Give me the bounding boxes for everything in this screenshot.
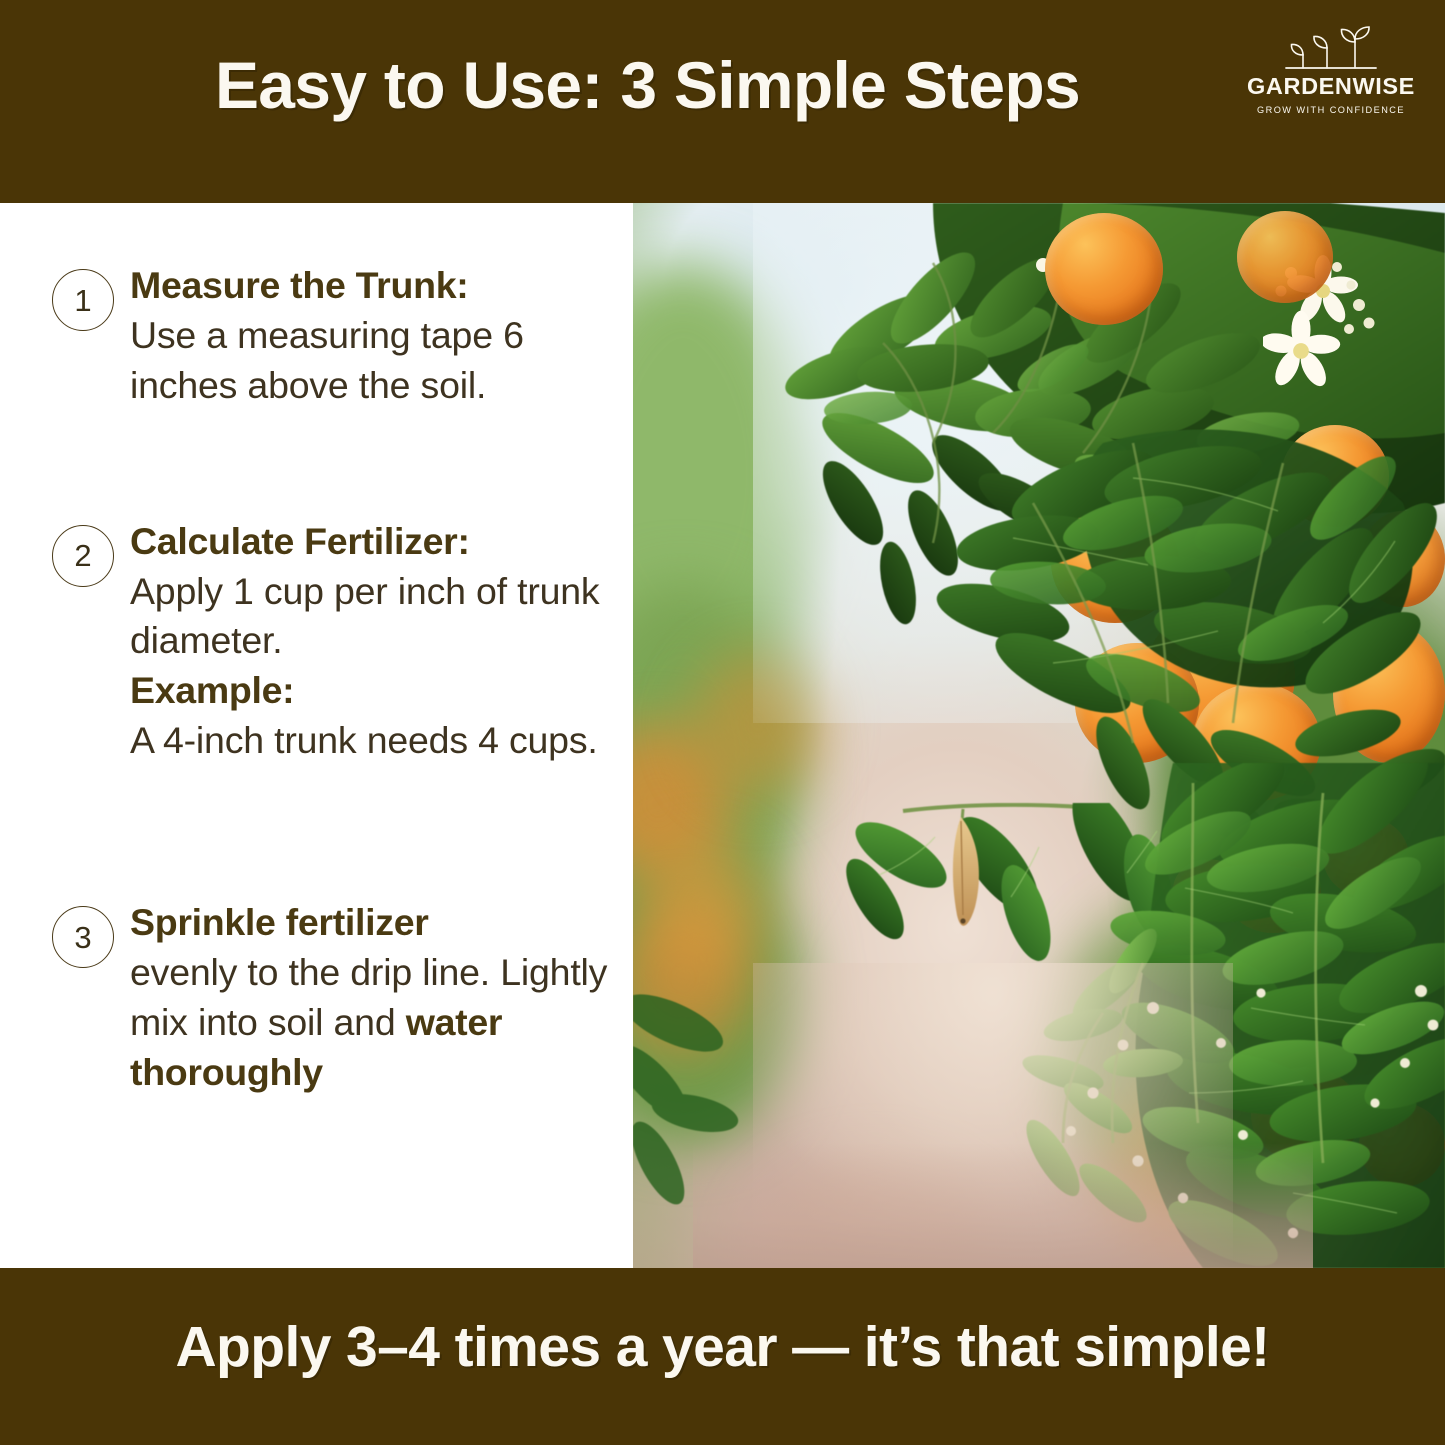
step-heading-3: Sprinkle fertilizer <box>130 901 429 943</box>
brand-logo: GARDENWISE GROW WITH CONFIDENCE <box>1245 24 1417 115</box>
step-heading-1: Measure the Trunk: <box>130 264 468 306</box>
steps-panel: 1 Measure the Trunk: Use a measuring tap… <box>0 203 633 1268</box>
step-item-2: 2 Calculate Fertilizer: Apply 1 cup per … <box>52 517 632 766</box>
step-number-badge-1: 1 <box>52 269 114 331</box>
orange-fruit <box>1237 211 1333 303</box>
step-description-3: evenly to the drip line. Lightly mix int… <box>130 951 607 1043</box>
logo-tagline: GROW WITH CONFIDENCE <box>1245 106 1417 115</box>
step-text-1: Measure the Trunk: Use a measuring tape … <box>130 261 632 411</box>
step-heading-2: Calculate Fertilizer: <box>130 520 470 562</box>
steps-list: 1 Measure the Trunk: Use a measuring tap… <box>52 261 632 1098</box>
page-title: Easy to Use: 3 Simple Steps <box>0 52 1445 118</box>
step-number-badge-3: 3 <box>52 906 114 968</box>
step-description-1: Use a measuring tape 6 inches above the … <box>130 314 524 406</box>
poster: Easy to Use: 3 Simple Steps <box>0 0 1445 1445</box>
step-number-badge-2: 2 <box>52 525 114 587</box>
footer-tagline: Apply 3–4 times a year — it’s that simpl… <box>0 1319 1445 1376</box>
orange-fruit <box>1045 213 1163 325</box>
step-item-3: 3 Sprinkle fertilizer evenly to the drip… <box>52 898 632 1098</box>
step-subheading-2: Example: <box>130 669 294 711</box>
step-subdescription-2: A 4-inch trunk needs 4 cups. <box>130 719 598 761</box>
three-sprouts-icon <box>1245 24 1417 74</box>
orange-grove-photo <box>633 203 1445 1268</box>
header-bar: Easy to Use: 3 Simple Steps <box>0 0 1445 203</box>
path-shadow <box>693 1143 1313 1268</box>
logo-wordmark: GARDENWISE <box>1245 75 1417 99</box>
step-description-2: Apply 1 cup per inch of trunk diameter. <box>130 570 599 662</box>
background-fruit-blur <box>643 843 763 973</box>
step-text-2: Calculate Fertilizer: Apply 1 cup per in… <box>130 517 632 766</box>
step-text-3: Sprinkle fertilizer evenly to the drip l… <box>130 898 632 1098</box>
footer-bar: Apply 3–4 times a year — it’s that simpl… <box>0 1268 1445 1445</box>
step-item-1: 1 Measure the Trunk: Use a measuring tap… <box>52 261 632 411</box>
